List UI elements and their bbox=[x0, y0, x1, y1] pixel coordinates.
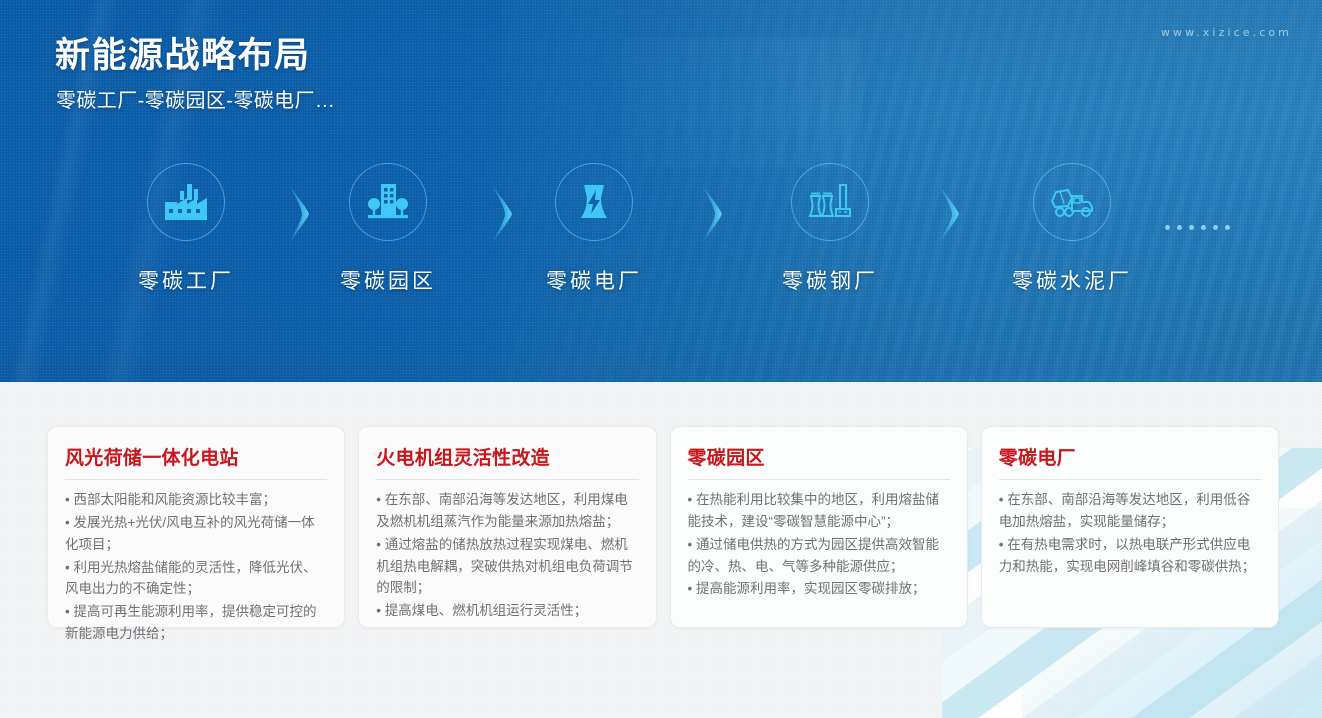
office-park-icon bbox=[366, 182, 410, 222]
factory-icon bbox=[163, 182, 209, 222]
card-title: 零碳园区 bbox=[688, 443, 950, 479]
card-bullet-list: • 在东部、南部沿海等发达地区，利用煤电及燃机机组蒸汽作为能量来源加热熔盐； •… bbox=[376, 489, 638, 622]
site-watermark: www.xizice.com bbox=[1161, 26, 1292, 39]
list-item: • 利用光热熔盐储能的灵活性，降低光伏、风电出力的不确定性； bbox=[65, 557, 327, 601]
chain-node-circle bbox=[147, 163, 225, 241]
chain-node-circle bbox=[349, 163, 427, 241]
strategy-card[interactable]: 火电机组灵活性改造 • 在东部、南部沿海等发达地区，利用煤电及燃机机组蒸汽作为能… bbox=[358, 426, 656, 628]
card-divider bbox=[999, 479, 1261, 480]
content-area: 风光荷储一体化电站 • 西部太阳能和风能资源比较丰富； • 发展光热+光伏/风电… bbox=[0, 382, 1322, 718]
chain-node-cement-plant[interactable]: 零碳水泥厂 bbox=[972, 163, 1172, 295]
cement-mixer-truck-icon bbox=[1048, 184, 1096, 220]
chain-node-steel-plant[interactable]: 零碳钢厂 bbox=[730, 163, 930, 295]
card-title: 火电机组灵活性改造 bbox=[376, 443, 638, 479]
chevron-right-icon bbox=[937, 185, 971, 243]
chain-node-factory[interactable]: 零碳工厂 bbox=[86, 163, 286, 295]
chain-node-circle bbox=[555, 163, 633, 241]
power-plant-bolt-icon bbox=[573, 182, 615, 222]
list-item: • 发展光热+光伏/风电互补的风光荷储一体化项目； bbox=[65, 512, 327, 556]
strategy-card[interactable]: 零碳电厂 • 在东部、南部沿海等发达地区，利用低谷电加热熔盐，实现能量储存； •… bbox=[981, 426, 1279, 628]
card-divider bbox=[376, 479, 638, 480]
chevron-right-icon bbox=[700, 185, 734, 243]
card-title: 风光荷储一体化电站 bbox=[65, 443, 327, 479]
card-divider bbox=[688, 479, 950, 480]
chain-node-label: 零碳钢厂 bbox=[730, 265, 930, 295]
page-subtitle: 零碳工厂-零碳园区-零碳电厂… bbox=[56, 84, 335, 113]
list-item: • 在东部、南部沿海等发达地区，利用低谷电加热熔盐，实现能量储存； bbox=[999, 489, 1261, 533]
chain-node-label: 零碳园区 bbox=[288, 265, 488, 295]
list-item: • 在热能利用比较集中的地区，利用熔盐储能技术，建设“零碳智慧能源中心”； bbox=[688, 489, 950, 533]
card-divider bbox=[65, 479, 327, 480]
chain-node-label: 零碳水泥厂 bbox=[972, 265, 1172, 295]
strategy-card[interactable]: 风光荷储一体化电站 • 西部太阳能和风能资源比较丰富； • 发展光热+光伏/风电… bbox=[47, 426, 345, 628]
card-title: 零碳电厂 bbox=[999, 443, 1261, 479]
strategy-card-list: 风光荷储一体化电站 • 西部太阳能和风能资源比较丰富； • 发展光热+光伏/风电… bbox=[47, 426, 1279, 628]
hero-banner: www.xizice.com 新能源战略布局 零碳工厂-零碳园区-零碳电厂… bbox=[0, 0, 1322, 382]
trailing-dots bbox=[1165, 225, 1230, 230]
list-item: • 在有热电需求时，以热电联产形式供应电力和热能，实现电网削峰填谷和零碳供热； bbox=[999, 534, 1261, 578]
card-bullet-list: • 西部太阳能和风能资源比较丰富； • 发展光热+光伏/风电互补的风光荷储一体化… bbox=[65, 489, 327, 645]
slide-root: www.xizice.com 新能源战略布局 零碳工厂-零碳园区-零碳电厂… bbox=[0, 0, 1322, 718]
card-bullet-list: • 在东部、南部沿海等发达地区，利用低谷电加热熔盐，实现能量储存； • 在有热电… bbox=[999, 489, 1261, 577]
list-item: • 通过储电供热的方式为园区提供高效智能的冷、热、电、气等多种能源供应； bbox=[688, 534, 950, 578]
list-item: • 西部太阳能和风能资源比较丰富； bbox=[65, 489, 327, 511]
chain-node-power-plant[interactable]: 零碳电厂 bbox=[494, 163, 694, 295]
chain-node-industrial-park[interactable]: 零碳园区 bbox=[288, 163, 488, 295]
chain-node-circle bbox=[791, 163, 869, 241]
list-item: • 提高能源利用率，实现园区零碳排放； bbox=[688, 578, 950, 600]
list-item: • 提高可再生能源利用率，提供稳定可控的新能源电力供给； bbox=[65, 601, 327, 645]
strategy-card[interactable]: 零碳园区 • 在热能利用比较集中的地区，利用熔盐储能技术，建设“零碳智慧能源中心… bbox=[670, 426, 968, 628]
chain-node-label: 零碳工厂 bbox=[86, 265, 286, 295]
chain-node-circle bbox=[1033, 163, 1111, 241]
chain-node-label: 零碳电厂 bbox=[494, 265, 694, 295]
steel-plant-icon bbox=[807, 182, 853, 222]
process-chain: 零碳工厂 bbox=[0, 163, 1322, 313]
list-item: • 提高煤电、燃机机组运行灵活性； bbox=[376, 600, 638, 622]
card-bullet-list: • 在热能利用比较集中的地区，利用熔盐储能技术，建设“零碳智慧能源中心”； • … bbox=[688, 489, 950, 600]
list-item: • 在东部、南部沿海等发达地区，利用煤电及燃机机组蒸汽作为能量来源加热熔盐； bbox=[376, 489, 638, 533]
page-title: 新能源战略布局 bbox=[55, 27, 311, 78]
list-item: • 通过熔盐的储热放热过程实现煤电、燃机机组热电解耦，突破供热对机组电负荷调节的… bbox=[376, 534, 638, 600]
